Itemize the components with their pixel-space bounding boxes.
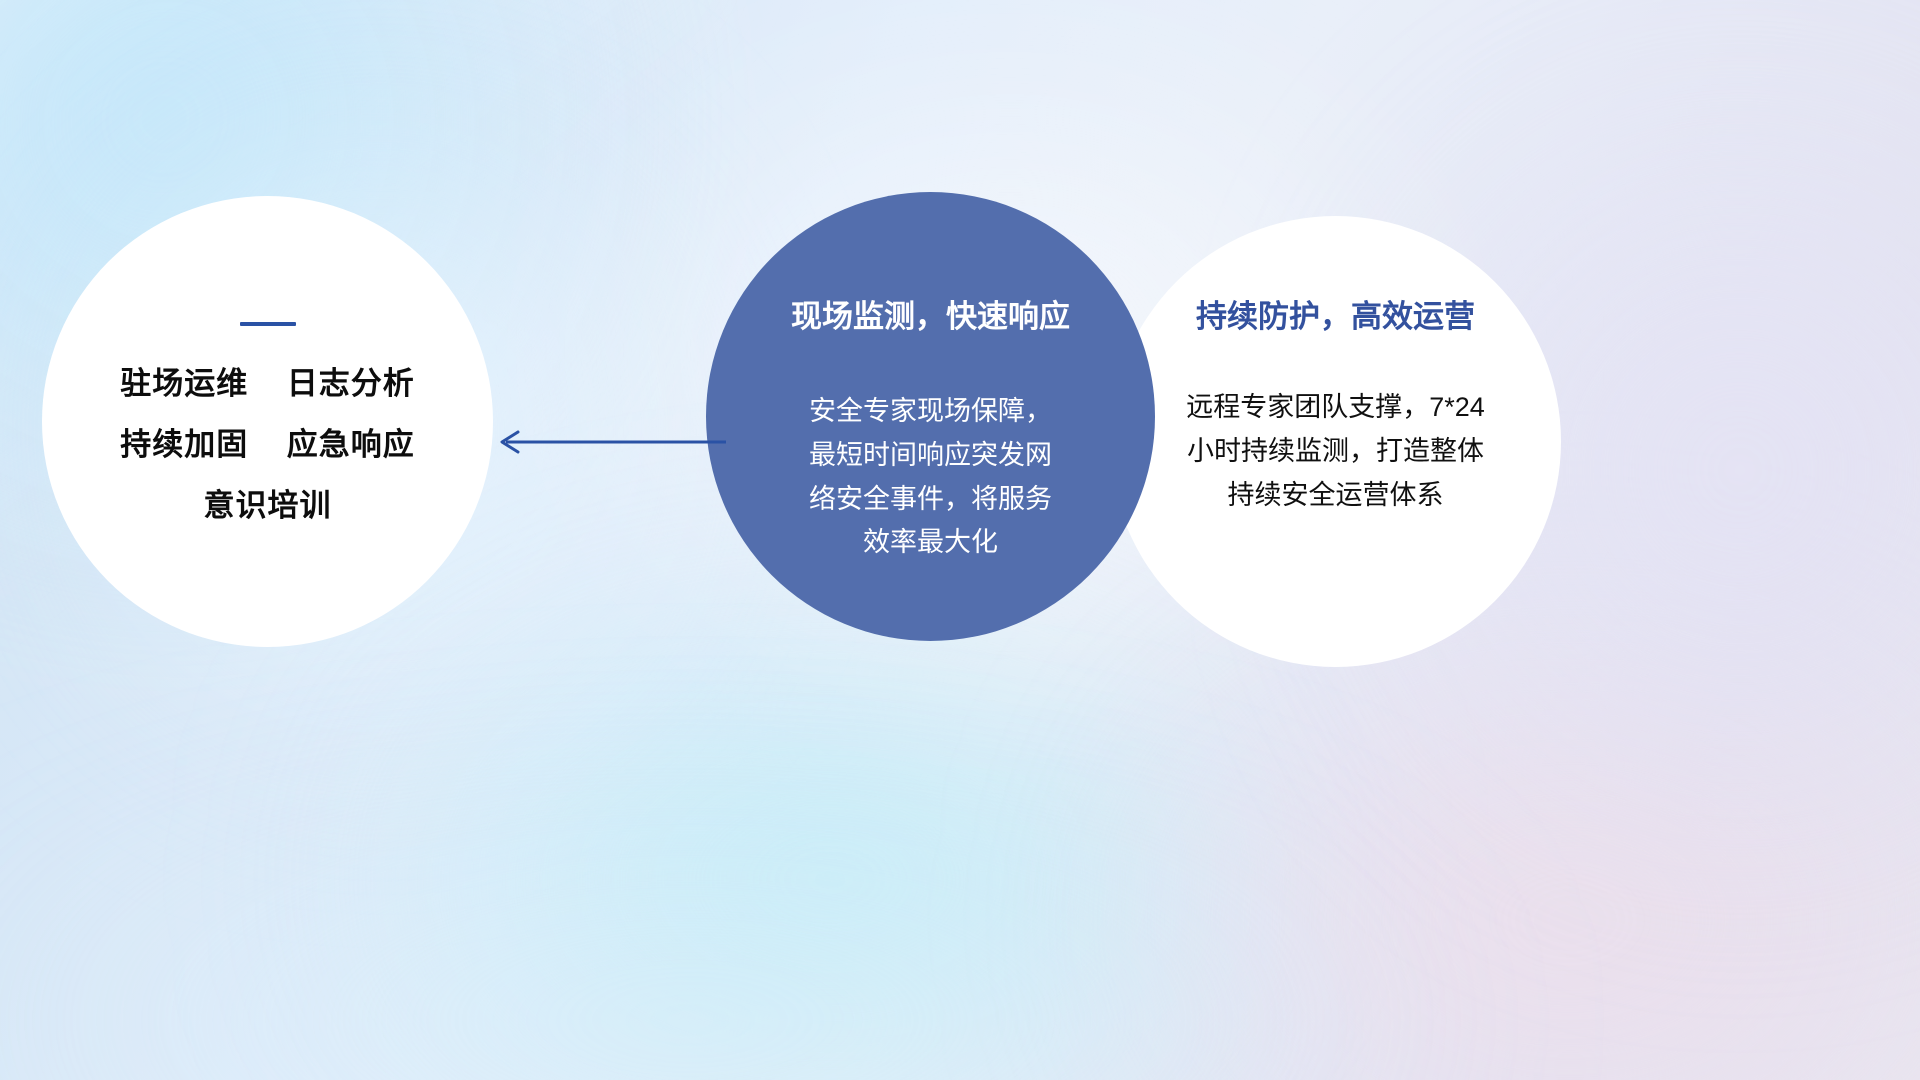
- right-info-circle[interactable]: 持续防护，高效运营 远程专家团队支撑，7*24 小时持续监测，打造整体 持续安全…: [1110, 216, 1561, 667]
- left-arrow-icon: [492, 424, 728, 460]
- middle-info-circle[interactable]: 现场监测，快速响应 安全专家现场保障， 最短时间响应突发网 络安全事件，将服务 …: [706, 192, 1155, 641]
- keyword-line-2: 持续加固 应急响应: [120, 429, 414, 460]
- keyword-line-1: 驻场运维 日志分析: [120, 368, 414, 399]
- divider-rule-icon: [240, 322, 296, 326]
- middle-circle-title: 现场监测，快速响应: [791, 300, 1070, 334]
- slide-canvas: 驻场运维 日志分析 持续加固 应急响应 意识培训 持续防护，高效运营 远程专家团…: [0, 0, 1920, 1080]
- middle-circle-body: 安全专家现场保障， 最短时间响应突发网 络安全事件，将服务 效率最大化: [785, 390, 1077, 565]
- left-keywords-circle[interactable]: 驻场运维 日志分析 持续加固 应急响应 意识培训: [42, 196, 493, 647]
- keyword-line-3: 意识培训: [204, 490, 332, 521]
- right-circle-title: 持续防护，高效运营: [1196, 300, 1475, 334]
- right-circle-body: 远程专家团队支撑，7*24 小时持续监测，打造整体 持续安全运营体系: [1160, 386, 1512, 517]
